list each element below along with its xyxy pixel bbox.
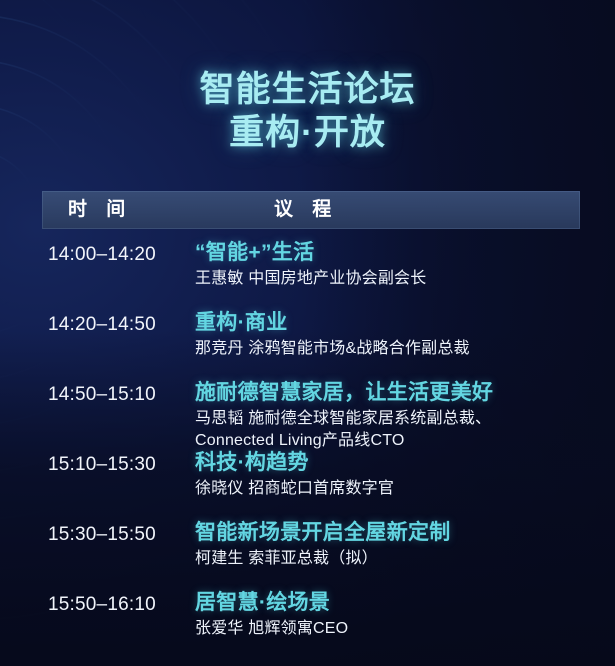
row-speaker: 柯建生 索菲亚总裁（拟） xyxy=(195,548,605,571)
row-time: 14:00–14:20 xyxy=(48,244,198,266)
row-time: 14:20–14:50 xyxy=(48,314,198,336)
column-header-time: 时 间 xyxy=(68,191,132,229)
row-session-title: 重构·商业 xyxy=(195,310,605,336)
title-line-secondary: 重构·开放 xyxy=(0,113,615,152)
table-row: 14:50–15:10 施耐德智慧家居，让生活更美好 马思韬 施耐德全球智能家居… xyxy=(0,380,615,432)
row-session-title: 居智慧·绘场景 xyxy=(195,590,605,616)
row-time: 15:10–15:30 xyxy=(48,454,198,476)
forum-agenda-poster: 智能生活论坛 重构·开放 时 间 议 程 14:00–14:20 “智能+”生活… xyxy=(0,0,615,666)
row-time: 14:50–15:10 xyxy=(48,384,198,406)
table-row: 15:50–16:10 居智慧·绘场景 张爱华 旭辉领寓CEO xyxy=(0,590,615,642)
row-session-title: 科技·构趋势 xyxy=(195,450,605,476)
row-speaker: 马思韬 施耐德全球智能家居系统副总裁、 xyxy=(195,408,605,431)
row-session-title: 智能新场景开启全屋新定制 xyxy=(195,520,605,546)
row-speaker: 王惠敏 中国房地产业协会副会长 xyxy=(195,268,605,291)
row-time: 15:30–15:50 xyxy=(48,524,198,546)
table-row: 15:30–15:50 智能新场景开启全屋新定制 柯建生 索菲亚总裁（拟） xyxy=(0,520,615,572)
row-agenda: 科技·构趋势 徐晓仪 招商蛇口首席数字官 xyxy=(195,450,605,500)
row-session-title: “智能+”生活 xyxy=(195,240,605,266)
row-speaker: 徐晓仪 招商蛇口首席数字官 xyxy=(195,478,605,501)
column-header-agenda: 议 程 xyxy=(274,191,338,229)
row-session-title: 施耐德智慧家居，让生活更美好 xyxy=(195,380,605,406)
row-speaker: 张爱华 旭辉领寓CEO xyxy=(195,618,605,641)
row-agenda: 智能新场景开启全屋新定制 柯建生 索菲亚总裁（拟） xyxy=(195,520,605,570)
agenda-table-header: 时 间 议 程 xyxy=(42,191,580,229)
row-time: 15:50–16:10 xyxy=(48,594,198,616)
row-agenda: “智能+”生活 王惠敏 中国房地产业协会副会长 xyxy=(195,240,605,290)
row-agenda: 居智慧·绘场景 张爱华 旭辉领寓CEO xyxy=(195,590,605,640)
row-speaker: 那竞丹 涂鸦智能市场&战略合作副总裁 xyxy=(195,338,605,361)
table-row: 14:20–14:50 重构·商业 那竞丹 涂鸦智能市场&战略合作副总裁 xyxy=(0,310,615,362)
table-row: 15:10–15:30 科技·构趋势 徐晓仪 招商蛇口首席数字官 xyxy=(0,450,615,502)
title-line-primary: 智能生活论坛 xyxy=(0,70,615,109)
poster-title: 智能生活论坛 重构·开放 xyxy=(0,70,615,152)
row-agenda: 重构·商业 那竞丹 涂鸦智能市场&战略合作副总裁 xyxy=(195,310,605,360)
table-row: 14:00–14:20 “智能+”生活 王惠敏 中国房地产业协会副会长 xyxy=(0,240,615,292)
row-agenda: 施耐德智慧家居，让生活更美好 马思韬 施耐德全球智能家居系统副总裁、 Conne… xyxy=(195,380,605,453)
agenda-rows: 14:00–14:20 “智能+”生活 王惠敏 中国房地产业协会副会长 14:2… xyxy=(0,240,615,660)
